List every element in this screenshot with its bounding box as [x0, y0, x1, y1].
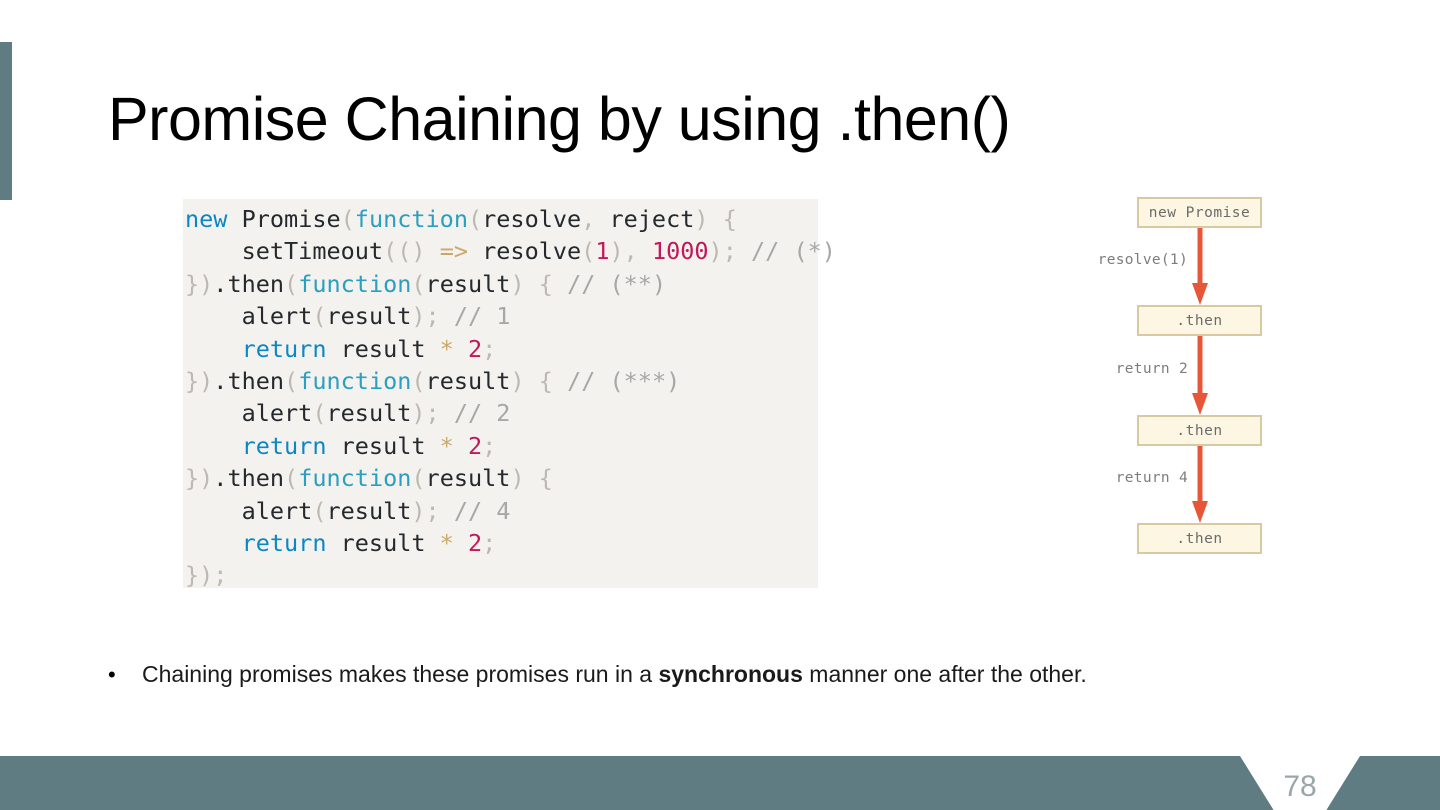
- code-token: [525, 464, 539, 492]
- code-token: [454, 335, 468, 363]
- code-token: function: [298, 464, 411, 492]
- code-line: }).then(function(result) {: [185, 462, 818, 494]
- code-token: (: [411, 270, 425, 298]
- code-token: ),: [609, 237, 651, 265]
- code-token: 2: [468, 529, 482, 557]
- code-token: // (*): [751, 237, 836, 265]
- code-token: ((): [383, 237, 425, 265]
- code-token: [440, 399, 454, 427]
- bullet-text-emphasis: synchronous: [658, 661, 802, 687]
- code-token: ;: [723, 237, 737, 265]
- code-token: (: [312, 399, 326, 427]
- left-accent-bar: [0, 42, 12, 200]
- code-line: setTimeout(() => resolve(1), 1000); // (…: [185, 235, 818, 267]
- code-token: result: [326, 432, 439, 460]
- code-token: [709, 205, 723, 233]
- code-token: result: [426, 270, 511, 298]
- code-token: resolve: [468, 237, 581, 265]
- code-token: (: [284, 270, 298, 298]
- code-line: return result * 2;: [185, 430, 818, 462]
- code-token: ): [411, 497, 425, 525]
- flow-box-then-1: .then: [1137, 305, 1262, 336]
- code-line: alert(result); // 1: [185, 300, 818, 332]
- code-token: 2: [468, 335, 482, 363]
- code-token: // 1: [454, 302, 511, 330]
- flow-arrow-label-return-4: return 4: [1116, 470, 1188, 486]
- code-token: ,: [581, 205, 609, 233]
- code-token: (: [284, 464, 298, 492]
- flow-box-label: .then: [1176, 313, 1222, 329]
- code-token: ;: [482, 432, 496, 460]
- code-block: new Promise(function(resolve, reject) { …: [183, 199, 818, 588]
- code-token: // 2: [454, 399, 511, 427]
- code-token: result: [326, 529, 439, 557]
- code-token: .then: [213, 367, 284, 395]
- code-token: [553, 270, 567, 298]
- code-lines: new Promise(function(resolve, reject) { …: [185, 203, 818, 592]
- code-token: }): [185, 561, 213, 589]
- code-token: return: [242, 432, 327, 460]
- code-token: // (**): [567, 270, 666, 298]
- code-token: }): [185, 367, 213, 395]
- code-token: {: [539, 367, 553, 395]
- code-token: ;: [213, 561, 227, 589]
- code-token: (: [341, 205, 355, 233]
- code-token: (: [312, 497, 326, 525]
- code-token: ): [709, 237, 723, 265]
- code-token: ;: [426, 399, 440, 427]
- code-token: alert: [185, 399, 312, 427]
- code-token: result: [327, 302, 412, 330]
- code-token: result: [327, 399, 412, 427]
- code-token: // 4: [454, 497, 511, 525]
- code-token: ): [510, 464, 524, 492]
- code-token: ): [694, 205, 708, 233]
- code-line: });: [185, 559, 818, 591]
- bullet-marker: •: [108, 664, 142, 686]
- code-token: }): [185, 464, 213, 492]
- code-token: .then: [213, 270, 284, 298]
- page-number: 78: [1272, 770, 1328, 804]
- code-token: ): [510, 270, 524, 298]
- code-token: result: [326, 335, 439, 363]
- code-token: *: [440, 432, 454, 460]
- code-line: }).then(function(result) { // (**): [185, 268, 818, 300]
- code-token: [185, 529, 242, 557]
- code-token: result: [426, 464, 511, 492]
- flow-box-label: .then: [1176, 423, 1222, 439]
- flow-arrow-label-resolve: resolve(1): [1098, 252, 1188, 268]
- code-token: function: [355, 205, 468, 233]
- bullet-text-before: Chaining promises makes these promises r…: [142, 661, 658, 687]
- down-arrow-icon: [1191, 336, 1209, 415]
- bullet-list: • Chaining promises makes these promises…: [108, 660, 1308, 689]
- code-token: (: [411, 464, 425, 492]
- flow-box-label: .then: [1176, 531, 1222, 547]
- code-token: [185, 432, 242, 460]
- code-token: return: [242, 529, 327, 557]
- code-token: result: [327, 497, 412, 525]
- code-token: {: [539, 464, 553, 492]
- footer-bar: [0, 756, 1440, 810]
- code-token: (: [411, 367, 425, 395]
- code-token: function: [298, 270, 411, 298]
- code-token: [553, 367, 567, 395]
- flow-box-label: new Promise: [1149, 205, 1251, 221]
- flow-box-then-3: .then: [1137, 523, 1262, 554]
- code-token: *: [440, 529, 454, 557]
- bullet-text: Chaining promises makes these promises r…: [142, 660, 1087, 689]
- code-token: .then: [213, 464, 284, 492]
- flow-box-new-promise: new Promise: [1137, 197, 1262, 228]
- code-token: alert: [185, 302, 312, 330]
- code-token: 1000: [652, 237, 709, 265]
- code-token: ;: [482, 529, 496, 557]
- code-token: (: [581, 237, 595, 265]
- bullet-text-after: manner one after the other.: [803, 661, 1087, 687]
- page-title: Promise Chaining by using .then(): [108, 86, 1010, 153]
- code-token: [185, 335, 242, 363]
- code-token: [737, 237, 751, 265]
- code-token: ;: [426, 497, 440, 525]
- promise-chain-flow-diagram: new Promise .then .then .then resolve(1)…: [1060, 190, 1320, 570]
- code-token: [525, 270, 539, 298]
- code-token: ;: [482, 335, 496, 363]
- code-token: [454, 432, 468, 460]
- code-token: function: [298, 367, 411, 395]
- flow-arrow-label-return-2: return 2: [1116, 361, 1188, 377]
- code-token: [440, 302, 454, 330]
- code-token: resolve: [482, 205, 581, 233]
- code-line: }).then(function(result) { // (***): [185, 365, 818, 397]
- code-line: return result * 2;: [185, 333, 818, 365]
- code-token: ): [411, 302, 425, 330]
- code-token: [440, 497, 454, 525]
- code-token: 1: [595, 237, 609, 265]
- code-token: return: [242, 335, 327, 363]
- code-line: new Promise(function(resolve, reject) {: [185, 203, 818, 235]
- code-token: {: [539, 270, 553, 298]
- code-token: ): [411, 399, 425, 427]
- code-token: // (***): [567, 367, 680, 395]
- code-token: =>: [440, 237, 468, 265]
- code-token: (: [312, 302, 326, 330]
- code-token: [525, 367, 539, 395]
- code-line: alert(result); // 4: [185, 495, 818, 527]
- down-arrow-icon: [1191, 446, 1209, 523]
- code-token: ;: [426, 302, 440, 330]
- code-token: [426, 237, 440, 265]
- code-line: return result * 2;: [185, 527, 818, 559]
- code-token: (: [284, 367, 298, 395]
- code-line: alert(result); // 2: [185, 397, 818, 429]
- code-token: alert: [185, 497, 312, 525]
- code-token: [454, 529, 468, 557]
- code-token: Promise: [227, 205, 340, 233]
- code-token: new: [185, 205, 227, 233]
- code-token: }): [185, 270, 213, 298]
- code-token: setTimeout: [185, 237, 383, 265]
- code-token: reject: [609, 205, 694, 233]
- code-token: result: [426, 367, 511, 395]
- code-token: ): [510, 367, 524, 395]
- code-token: 2: [468, 432, 482, 460]
- down-arrow-icon: [1191, 228, 1209, 305]
- code-token: (: [468, 205, 482, 233]
- flow-box-then-2: .then: [1137, 415, 1262, 446]
- code-token: *: [440, 335, 454, 363]
- code-token: {: [723, 205, 737, 233]
